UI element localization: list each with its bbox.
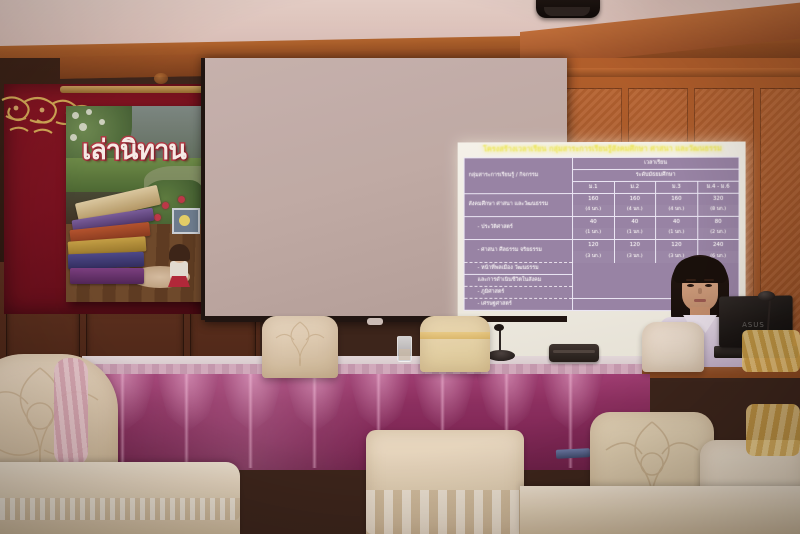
- cell-credits: (8 นก.): [697, 205, 739, 217]
- cell-credits: (3 นก.): [614, 251, 656, 262]
- row-label-social-studies: สังคมศึกษา ศาสนา และวัฒนธรรม: [464, 194, 572, 217]
- cell-value: 160: [656, 193, 698, 205]
- screen-bottom-edge: [205, 316, 567, 322]
- projection-screen: โครงสร้างเวลาเรียน กลุ่มสาระการเรียนรู้ส…: [205, 58, 567, 320]
- cell-credits: (4 นก.): [573, 205, 614, 217]
- cell-credits: (1 นก.): [573, 228, 614, 240]
- poster-book: [68, 252, 144, 270]
- presenter-eye: [687, 284, 694, 287]
- presenter-nose: [698, 288, 702, 294]
- row-label-religion-morals: - ศาสนา ศีลธรรม จริยธรรม: [464, 240, 572, 263]
- table-row: สังคมศึกษา ศาสนา และวัฒนธรรม 160 160 160…: [464, 193, 739, 205]
- header-secondary-level: ระดับมัธยมศึกษา: [573, 169, 740, 181]
- damask-pattern-icon: [262, 316, 338, 378]
- desk-mic-base: [487, 350, 515, 361]
- cell-credits: (1 นก.): [656, 228, 698, 240]
- chair-back-cover: [262, 316, 338, 378]
- cell-value: 120: [573, 239, 614, 251]
- cell-value: 320: [697, 193, 739, 205]
- chair-back-cover: [420, 316, 490, 372]
- header-level-m2: ม.2: [614, 181, 656, 193]
- header-level-m4-m6: ม.4 - ม.6: [697, 181, 739, 193]
- cell-credits: (4 นก.): [656, 205, 698, 217]
- row-label-history: - ประวัติศาสตร์: [464, 217, 572, 240]
- chair-pink-ruffle: [54, 358, 88, 466]
- cell-value: 120: [656, 239, 698, 251]
- header-study-time: เวลาเรียน: [573, 157, 740, 169]
- chair-sash: [420, 332, 490, 339]
- poster-picture-frame-icon: [172, 208, 200, 234]
- table-header-row-1: กลุ่มสาระการเรียนรู้ / กิจกรรม เวลาเรียน: [464, 157, 739, 170]
- cell-credits: (3 นก.): [573, 251, 614, 262]
- cell-value: 120: [614, 239, 656, 251]
- header-level-m1: ม.1: [573, 181, 614, 193]
- cell-value: 40: [656, 216, 698, 228]
- cell-credits: (1 นก.): [614, 228, 656, 240]
- header-level-m3: ม.3: [656, 181, 698, 193]
- poster-blossom-icon: [86, 109, 92, 115]
- row-label-civics-line2: และการดำเนินชีวิตในสังคม: [464, 274, 572, 286]
- black-bag: [549, 344, 599, 362]
- row-label-economics: - เศรษฐศาสตร์: [464, 298, 572, 310]
- cell-value: 160: [614, 193, 656, 205]
- cell-value: 160: [573, 193, 614, 205]
- foreground-seat-cover: [520, 486, 800, 534]
- water-glass: [397, 336, 412, 362]
- poster-blossom-icon: [99, 119, 105, 125]
- desk-mic-stem: [499, 328, 501, 352]
- cell-value: 80: [697, 216, 739, 228]
- table-row: - ศาสนา ศีลธรรม จริยธรรม 120 120 120 240: [464, 239, 739, 251]
- desk-microphone-icon: [494, 324, 504, 331]
- poster-book: [70, 268, 144, 284]
- poster-girl-hair: [169, 244, 190, 261]
- cell-credits: (2 นก.): [697, 228, 739, 240]
- poster-blossom-icon: [70, 134, 77, 141]
- presenter-mouth: [694, 299, 706, 302]
- chair-gold-sash: [746, 404, 800, 456]
- row-label-civics-line1: - หน้าที่พลเมือง วัฒนธรรม: [464, 262, 572, 274]
- cell-value: 40: [614, 216, 656, 228]
- beam-medallion-icon: [154, 73, 168, 84]
- conference-room-photo: เล่านิทาน โครงสร้างเวลาเรียน กลุ่มสาระกา…: [0, 0, 800, 534]
- header-subject-group: กลุ่มสาระการเรียนรู้ / กิจกรรม: [464, 158, 572, 194]
- row-label-geography: - ภูมิศาสตร์: [464, 286, 572, 298]
- cell-value: 240: [697, 239, 739, 251]
- presenter-brow: [686, 279, 696, 281]
- boom-microphone-icon: [758, 291, 775, 301]
- table-row: - ประวัติศาสตร์ 40 40 40 80: [464, 216, 739, 228]
- screen-pull-knob: [367, 318, 383, 325]
- chair-gold-sash: [742, 330, 800, 372]
- cell-value: 40: [573, 216, 614, 228]
- cell-credits: (4 นก.): [614, 205, 656, 217]
- mobile-phone: [556, 448, 590, 459]
- presenter-fringe: [673, 257, 727, 283]
- poster-rose-icon: [178, 196, 185, 203]
- presenter-eye: [705, 284, 712, 287]
- poster-blossom-icon: [72, 112, 79, 119]
- seat-ruffle: [0, 498, 240, 520]
- poster-books: [68, 194, 164, 298]
- storytelling-poster: เล่านิทาน: [66, 106, 204, 302]
- slide-title: โครงสร้างเวลาเรียน กลุ่มสาระการเรียนรู้ส…: [464, 144, 742, 156]
- wall-rail: [548, 68, 800, 77]
- ceiling-speaker-icon: [536, 0, 600, 18]
- presenter-brow: [704, 279, 714, 281]
- chair-back-cover: [642, 322, 704, 372]
- poster-title: เล่านิทาน: [82, 128, 186, 171]
- table-cover-pleats: [366, 490, 524, 534]
